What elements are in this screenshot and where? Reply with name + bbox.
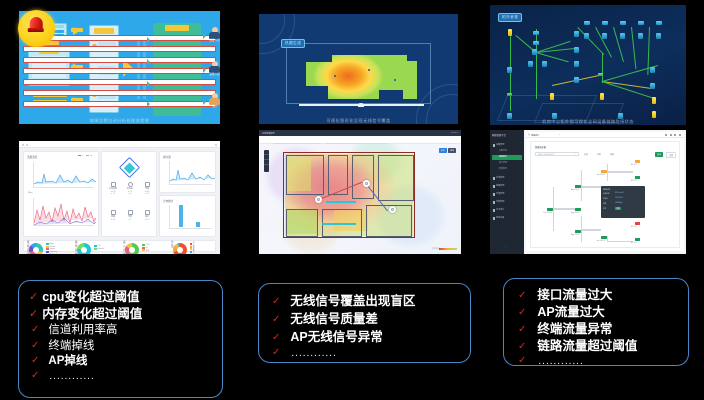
kpi-cell[interactable]: 端口 ● 512 bbox=[139, 210, 155, 221]
board-title: 链路拓扑图 bbox=[535, 145, 546, 149]
chart-legend: 入 出 bbox=[78, 155, 92, 157]
room bbox=[286, 209, 318, 237]
check-icon: ✓ bbox=[31, 325, 39, 335]
line-chart-traffic-upper bbox=[34, 162, 96, 188]
popup-row-key: 状态 bbox=[603, 208, 606, 210]
console-main: 链路拓扑 ▤ ▾ 链路拓扑图 请输入设备名称或IP ⌕ 全部 正常 告警 查询 … bbox=[526, 132, 684, 251]
bullet-box-performance-alarms[interactable]: ✓ cpu变化超过阈值 ✓ 内存变化超过阈值 ✓ 信道利用率高 ✓ 终端掉线 ✓… bbox=[18, 280, 223, 398]
heatmap-tag: 热图生成 bbox=[281, 39, 305, 48]
list-item-ellipsis: ✓ ............ bbox=[272, 349, 464, 359]
sidebar-item-audit[interactable]: 日志审计 bbox=[492, 208, 522, 213]
list-item-label: 终端流量异常 bbox=[537, 323, 612, 336]
topology-node[interactable] bbox=[507, 93, 512, 96]
topology-node[interactable] bbox=[550, 93, 554, 100]
screenshot-caption: 全网性能数据大屏统一监控分析 bbox=[19, 248, 220, 254]
heatmap-mode-toggle[interactable]: 信号 速率 bbox=[439, 148, 456, 153]
screenshot-caption: 无线信号覆盖热力图精准定位盲区 bbox=[259, 248, 461, 254]
list-item-label: 无线信号质量差 bbox=[290, 313, 378, 326]
topology-link bbox=[602, 81, 655, 99]
popup-row-key: 带宽 bbox=[603, 203, 606, 205]
bar bbox=[179, 205, 183, 227]
list-item-label: 无线信号覆盖出现盲区 bbox=[290, 295, 415, 308]
ap-icon bbox=[128, 182, 133, 187]
filter-alarm[interactable]: 告警 bbox=[610, 153, 614, 156]
kpi-value: ● 512 bbox=[139, 219, 155, 221]
check-icon: ✓ bbox=[518, 308, 526, 318]
room bbox=[378, 155, 414, 201]
sidebar-item-label: 链路管理 bbox=[496, 185, 504, 187]
panel-distribution[interactable]: 分布统计 bbox=[159, 195, 216, 237]
check-icon: ✓ bbox=[29, 292, 38, 303]
topology-node[interactable] bbox=[656, 33, 661, 39]
arrow-out-1 bbox=[203, 33, 206, 39]
topology-node[interactable] bbox=[602, 33, 607, 39]
topology-board[interactable]: 链路拓扑图 请输入设备名称或IP ⌕ 全部 正常 告警 查询 重置 bbox=[530, 141, 680, 248]
topology-node[interactable] bbox=[574, 77, 579, 83]
bar bbox=[196, 222, 200, 227]
tree-node-root[interactable] bbox=[547, 208, 553, 211]
topology-node[interactable] bbox=[584, 33, 589, 39]
topology-node[interactable] bbox=[600, 93, 604, 100]
sidebar-subitem-link-topology[interactable]: 链路拓扑 bbox=[492, 155, 522, 160]
topology-node[interactable] bbox=[638, 33, 643, 39]
list-item-label: 信道利用率高 bbox=[48, 325, 117, 337]
tree-node-label: AP-102 bbox=[631, 180, 637, 182]
tab-link-topology[interactable]: 链路拓扑 bbox=[531, 134, 539, 137]
tab-bar: 链路拓扑 ▤ ▾ bbox=[526, 132, 684, 138]
list-item-label: AP掉线 bbox=[48, 356, 87, 368]
arrow-out-2 bbox=[203, 67, 206, 73]
chart-icon bbox=[493, 201, 495, 203]
sidebar-subitem-label: 链路拓扑 bbox=[499, 156, 507, 158]
arrow-in-3 bbox=[147, 81, 150, 87]
topology-node[interactable] bbox=[650, 83, 655, 89]
tree-edge bbox=[581, 187, 601, 201]
list-item: ✓ 链路流量超过阈值 bbox=[518, 340, 682, 353]
device-icon bbox=[111, 182, 116, 187]
topology-tag: 拓扑呈现 bbox=[498, 13, 522, 22]
topology-node[interactable] bbox=[598, 73, 603, 76]
check-icon: ✓ bbox=[29, 309, 38, 320]
role-label: 用户 bbox=[209, 105, 220, 109]
sidebar-item-label: 性能管理 bbox=[496, 201, 504, 203]
role-label: 运维人员 bbox=[209, 73, 220, 77]
topology-node[interactable] bbox=[574, 31, 579, 37]
tree-node-label: Agg-SW-02 bbox=[571, 212, 580, 214]
filter-normal[interactable]: 正常 bbox=[597, 153, 601, 156]
heatmap-canvas[interactable]: 信号 速率 信号强度 bbox=[259, 144, 461, 254]
arrow-in-4 bbox=[147, 101, 150, 107]
popup-row-value: SW-Core-01 bbox=[615, 193, 624, 194]
arrow-in-2 bbox=[147, 59, 150, 65]
dashboard-titlebar bbox=[19, 141, 220, 148]
gear-icon bbox=[493, 217, 495, 219]
process-item bbox=[23, 46, 216, 52]
health-diamond-indicator bbox=[119, 157, 140, 178]
tab-icon: ▤ bbox=[528, 134, 530, 136]
screenshot-network-topology-map[interactable]: 拓扑呈现 bbox=[490, 5, 686, 125]
corridor-marker bbox=[326, 201, 356, 203]
tree-node-label: Acc-SW-11 bbox=[597, 174, 605, 176]
tree-edge bbox=[607, 164, 633, 172]
slide-canvas: 运维人员 运维人员 用户 故障告警自动分析处理流程图 热图生 bbox=[0, 0, 704, 400]
tree-edge bbox=[607, 236, 633, 242]
topology-link bbox=[536, 52, 569, 62]
heatmap-notch bbox=[379, 90, 403, 99]
topology-node[interactable] bbox=[620, 33, 625, 39]
coverage-heatmap bbox=[306, 55, 417, 99]
tree-node-error[interactable] bbox=[635, 222, 640, 225]
role-avatar: 运维人员 bbox=[209, 61, 220, 77]
tree-node-label: AP-301 bbox=[631, 242, 637, 244]
screenshot-caption: 故障告警自动分析处理流程图 bbox=[19, 117, 220, 124]
screenshot-link-tree-console[interactable]: 网络管理平台 设备管理 设备列表 链路拓扑 端口管理 配置备份 无线管理 链路管… bbox=[490, 130, 686, 254]
alarm-process-title bbox=[165, 25, 189, 31]
sidebar-subitem-device-list[interactable]: 设备列表 bbox=[492, 149, 522, 154]
access-point[interactable] bbox=[363, 180, 370, 187]
chart-axis bbox=[169, 205, 212, 229]
panel-health[interactable]: 在线设备 ● 128 ● 12 无线AP ● 64 ● 3 终端 ● 932 ●… bbox=[101, 151, 157, 237]
sidebar-subitem-backup[interactable]: 配置备份 bbox=[492, 167, 522, 172]
kpi-value: ● 12 bbox=[105, 193, 121, 195]
tree-node[interactable] bbox=[601, 236, 607, 239]
list-item-label: AP无线信号异常 bbox=[290, 331, 382, 344]
sidebar-item-settings[interactable]: 系统设置 bbox=[492, 216, 522, 221]
topology-node[interactable] bbox=[652, 111, 656, 118]
arrow-in-1 bbox=[147, 37, 150, 43]
list-item: ✓ cpu变化超过阈值 bbox=[29, 291, 216, 304]
siren-dome bbox=[29, 17, 42, 28]
tree-node-label: Agg-SW-01 bbox=[571, 189, 580, 191]
heatmap-marker bbox=[368, 69, 370, 71]
tree-node-label: Core-SW-01 bbox=[543, 212, 552, 214]
kpi-cell[interactable]: 在线设备 ● 128 ● 12 bbox=[105, 182, 121, 195]
popup-row-value: 1000Mbps bbox=[615, 203, 622, 204]
topology-node[interactable] bbox=[574, 61, 579, 67]
window-dot bbox=[215, 144, 217, 146]
role-avatar: 用户 bbox=[209, 93, 220, 109]
list-item-ellipsis: ✓ ............ bbox=[29, 372, 216, 382]
tree-node[interactable] bbox=[575, 208, 581, 211]
sidebar-item-label: 系统设置 bbox=[496, 217, 504, 219]
popup-row-value: 192.168.1.1 bbox=[615, 198, 623, 199]
port-icon bbox=[145, 210, 150, 215]
topology-node[interactable] bbox=[652, 97, 656, 104]
ellipsis-label: ............ bbox=[538, 357, 583, 367]
heatmap-notch bbox=[407, 55, 417, 61]
check-icon: ✓ bbox=[518, 325, 526, 335]
process-item bbox=[23, 57, 216, 63]
sidebar-item-label: 设备管理 bbox=[496, 144, 504, 146]
segment-signal[interactable]: 信号 bbox=[439, 148, 447, 153]
screenshot-analytics-dashboard[interactable]: 流量监控 入 出 Mbps 在线设备 ● 128 ● 12 bbox=[19, 141, 220, 254]
tree-edge bbox=[581, 170, 601, 187]
kpi-cell[interactable]: 终端 ● 932 ● 21 bbox=[139, 182, 155, 195]
screenshot-coverage-heatmap-slide[interactable]: 热图生成 可视化图形化呈现无线信号覆盖 bbox=[259, 14, 458, 124]
list-item: ✓ AP无线信号异常 bbox=[272, 331, 464, 344]
tree-node-label: Agg-SW-03 bbox=[571, 234, 580, 236]
screenshot-floorplan-wifi-heatmap[interactable]: 无线网络管理 admin ▾ 楼栋 综合办公楼 ▾ 请输入关键字 ⌕ 重新生成热… bbox=[259, 130, 461, 254]
topology-node[interactable] bbox=[574, 47, 579, 53]
list-item: ✓ 接口流量过大 bbox=[518, 289, 682, 302]
heatmap-marker bbox=[334, 75, 336, 77]
check-icon: ✓ bbox=[31, 371, 39, 381]
kpi-value: ● 7 bbox=[122, 219, 138, 221]
panel-throughput[interactable]: 吞吐量 bbox=[159, 151, 216, 193]
list-item: ✓ 终端流量异常 bbox=[518, 323, 682, 336]
tree-node-label: AP-101 bbox=[631, 164, 637, 166]
check-icon: ✓ bbox=[518, 342, 526, 352]
arrow-out-3 bbox=[203, 99, 206, 105]
topology-node[interactable] bbox=[533, 41, 539, 45]
link-icon bbox=[111, 210, 116, 215]
sidebar-item-label: 告警管理 bbox=[496, 193, 504, 195]
list-item-label: 接口流量过大 bbox=[537, 289, 612, 302]
process-item bbox=[23, 79, 216, 85]
search-placeholder: 请输入设备名称或IP bbox=[538, 153, 554, 156]
role-label: 运维人员 bbox=[209, 39, 220, 43]
popup-title: 链路详情 bbox=[603, 188, 610, 191]
kpi-value: ● 3 bbox=[122, 193, 138, 195]
kpi-cell[interactable]: 链路 ● 48 bbox=[105, 210, 121, 221]
topology-link bbox=[602, 53, 603, 83]
kpi-cell[interactable]: 告警 ● 7 bbox=[122, 210, 138, 221]
sidebar-item-performance[interactable]: 性能管理 bbox=[492, 200, 522, 205]
list-item-label: cpu变化超过阈值 bbox=[42, 291, 139, 304]
panel-title: 流量监控 bbox=[27, 155, 37, 159]
tree-edge bbox=[607, 172, 633, 181]
siren-base bbox=[28, 28, 44, 32]
topology-node[interactable] bbox=[620, 21, 626, 25]
wifi-icon bbox=[493, 177, 495, 179]
window-icon[interactable] bbox=[679, 134, 681, 136]
list-item: ✓ 内存变化超过阈值 bbox=[29, 308, 216, 321]
tree-node-label: AP-205 bbox=[631, 226, 637, 228]
process-item bbox=[23, 90, 216, 96]
floorplan-outline bbox=[283, 152, 415, 238]
topology-node[interactable] bbox=[532, 49, 537, 55]
heatmap-notch bbox=[306, 55, 332, 62]
sidebar-item-alarm[interactable]: 告警管理 bbox=[492, 192, 522, 197]
check-icon: ✓ bbox=[272, 348, 280, 358]
tree-edge bbox=[581, 216, 601, 230]
bullet-list: ✓ cpu变化超过阈值 ✓ 内存变化超过阈值 ✓ 信道利用率高 ✓ 终端掉线 ✓… bbox=[29, 291, 216, 382]
topology-link bbox=[632, 27, 637, 69]
tree-node-label: Acc-SW-31 bbox=[597, 240, 606, 242]
heatmap-notch bbox=[306, 86, 328, 99]
topology-node[interactable] bbox=[542, 61, 547, 67]
window-dot bbox=[22, 144, 24, 146]
subchart-label: Mbps bbox=[28, 192, 33, 194]
check-icon: ✓ bbox=[518, 291, 526, 301]
stand-icon bbox=[358, 103, 364, 107]
sidebar-subitem-port[interactable]: 端口管理 bbox=[492, 161, 522, 166]
window-icon[interactable] bbox=[670, 134, 672, 136]
heatmap-marker bbox=[394, 79, 396, 81]
client-icon bbox=[145, 182, 150, 187]
sidebar-logo: 网络管理平台 bbox=[492, 133, 506, 137]
list-item: ✓ 信道利用率高 bbox=[29, 325, 216, 337]
filter-all[interactable]: 全部 bbox=[584, 153, 588, 156]
list-item: ✓ AP掉线 bbox=[29, 356, 216, 368]
sidebar-subitem-label: 配置备份 bbox=[499, 168, 507, 170]
kpi-value: ● 21 bbox=[139, 193, 155, 195]
app-title: 无线网络管理 bbox=[262, 132, 274, 135]
arrow-label-1 bbox=[71, 28, 83, 32]
check-icon: ✓ bbox=[272, 333, 280, 343]
list-item: ✓ AP流量过大 bbox=[518, 306, 682, 319]
link-icon bbox=[493, 185, 495, 187]
query-button[interactable]: 查询 bbox=[655, 152, 663, 157]
console-sidebar[interactable]: 网络管理平台 设备管理 设备列表 链路拓扑 端口管理 配置备份 无线管理 链路管… bbox=[490, 130, 524, 254]
check-icon: ✓ bbox=[272, 297, 280, 307]
chevron-down-icon[interactable]: ▾ bbox=[559, 134, 560, 136]
kpi-value: ● 48 bbox=[105, 219, 121, 221]
check-icon: ✓ bbox=[518, 356, 526, 366]
sidebar-item-device[interactable]: 设备管理 bbox=[492, 143, 522, 148]
bullet-box-traffic-alarms[interactable]: ✓ 接口流量过大 ✓ AP流量过大 ✓ 终端流量异常 ✓ 链路流量超过阈值 ✓ … bbox=[503, 278, 689, 366]
check-icon: ✓ bbox=[31, 356, 39, 366]
topology-node[interactable] bbox=[602, 21, 608, 25]
topology-node[interactable] bbox=[584, 21, 590, 25]
sidebar-subitem-label: 端口管理 bbox=[499, 162, 507, 164]
kpi-cell[interactable]: 无线AP ● 64 ● 3 bbox=[122, 182, 138, 195]
panel-traffic[interactable]: 流量监控 入 出 Mbps bbox=[23, 151, 99, 237]
sidebar-item-wireless[interactable]: 无线管理 bbox=[492, 176, 522, 181]
line-chart-traffic-lower bbox=[34, 198, 96, 226]
topology-link bbox=[536, 29, 537, 99]
topology-node[interactable] bbox=[650, 67, 655, 73]
topology-link bbox=[578, 27, 605, 55]
popup-row-key: 设备名称 bbox=[603, 193, 609, 195]
bullet-list: ✓ 无线信号覆盖出现盲区 ✓ 无线信号质量差 ✓ AP无线信号异常 ✓ ....… bbox=[272, 295, 464, 359]
alarm-icon bbox=[128, 210, 133, 215]
role-avatar: 运维人员 bbox=[209, 27, 220, 43]
bullet-list: ✓ 接口流量过大 ✓ AP流量过大 ✓ 终端流量异常 ✓ 链路流量超过阈值 ✓ … bbox=[518, 289, 682, 367]
tree-node[interactable] bbox=[635, 176, 640, 179]
user-menu[interactable]: admin ▾ bbox=[451, 132, 458, 134]
line-chart-throughput bbox=[170, 161, 215, 185]
popup-row-key: IP地址 bbox=[603, 198, 608, 200]
bell-icon bbox=[493, 193, 495, 195]
alarm-siren-icon bbox=[18, 10, 55, 47]
topology-node[interactable] bbox=[508, 29, 512, 36]
access-point[interactable] bbox=[389, 206, 396, 213]
list-item-ellipsis: ✓ ............ bbox=[518, 357, 682, 367]
bullet-box-wireless-signal-alarms[interactable]: ✓ 无线信号覆盖出现盲区 ✓ 无线信号质量差 ✓ AP无线信号异常 ✓ ....… bbox=[258, 283, 471, 363]
filter-toolbar: 楼栋 综合办公楼 ▾ 请输入关键字 ⌕ 重新生成热图 bbox=[259, 136, 461, 144]
event-title bbox=[94, 28, 114, 34]
reset-button[interactable]: 重置 bbox=[666, 152, 676, 158]
screenshot-caption: 链路拓扑树状图展示全网链路质量状态 bbox=[490, 248, 686, 254]
room bbox=[286, 155, 324, 195]
topology-node[interactable] bbox=[528, 61, 533, 67]
topology-node[interactable] bbox=[638, 21, 644, 25]
list-item: ✓ 无线信号覆盖出现盲区 bbox=[272, 295, 464, 308]
window-icon[interactable] bbox=[674, 134, 676, 136]
sidebar-subitem-label: 设备列表 bbox=[499, 150, 507, 152]
tree-node[interactable] bbox=[635, 238, 640, 241]
process-item bbox=[23, 101, 216, 107]
link-detail-popup[interactable]: 链路详情 设备名称 SW-Core-01 IP地址 192.168.1.1 带宽… bbox=[601, 186, 645, 218]
tree-node-warning[interactable] bbox=[601, 170, 607, 173]
list-item-label: 终端掉线 bbox=[48, 341, 94, 353]
panel-title: 分布统计 bbox=[163, 199, 173, 203]
list-item-label: 内存变化超过阈值 bbox=[42, 308, 142, 321]
tool-info-icon[interactable] bbox=[264, 165, 269, 170]
topology-link bbox=[602, 81, 652, 88]
check-icon: ✓ bbox=[272, 315, 280, 325]
screenshot-caption: 可视化图形化呈现无线信号覆盖 bbox=[259, 117, 458, 124]
tree-node[interactable] bbox=[575, 230, 581, 233]
window-dot bbox=[26, 144, 28, 146]
sidebar-item-link[interactable]: 链路管理 bbox=[492, 184, 522, 189]
access-point[interactable] bbox=[315, 196, 322, 203]
panel-title: 吞吐量 bbox=[163, 155, 171, 159]
topology-node[interactable] bbox=[507, 67, 512, 73]
log-icon bbox=[493, 209, 495, 211]
check-icon: ✓ bbox=[31, 341, 39, 351]
device-icon bbox=[493, 144, 495, 146]
window-icon[interactable] bbox=[665, 134, 667, 136]
topology-node[interactable] bbox=[656, 21, 662, 25]
process-item bbox=[23, 68, 216, 74]
ellipsis-label: ............ bbox=[291, 349, 336, 359]
search-icon[interactable]: ⌕ bbox=[575, 153, 576, 155]
ellipsis-label: ............ bbox=[49, 372, 94, 382]
corridor-marker bbox=[322, 223, 356, 225]
sidebar-item-label: 无线管理 bbox=[496, 177, 504, 179]
tree-node[interactable] bbox=[635, 160, 640, 163]
screenshot-caption: 机房中心拓扑图可视化全网设备链路连接状态 bbox=[490, 118, 686, 125]
room bbox=[352, 155, 374, 199]
map-tool-palette[interactable] bbox=[264, 150, 269, 172]
tree-node[interactable] bbox=[575, 185, 581, 188]
health-core bbox=[124, 162, 135, 173]
popup-detail-button[interactable]: 详情 bbox=[615, 207, 621, 210]
list-item: ✓ 终端掉线 bbox=[29, 341, 216, 353]
sidebar-item-label: 日志审计 bbox=[496, 209, 504, 211]
list-item-label: 链路流量超过阈值 bbox=[537, 340, 637, 353]
list-item: ✓ 无线信号质量差 bbox=[272, 313, 464, 326]
segment-rate[interactable]: 速率 bbox=[448, 148, 456, 153]
list-item-label: AP流量过大 bbox=[537, 306, 604, 319]
topology-node[interactable] bbox=[533, 31, 539, 35]
